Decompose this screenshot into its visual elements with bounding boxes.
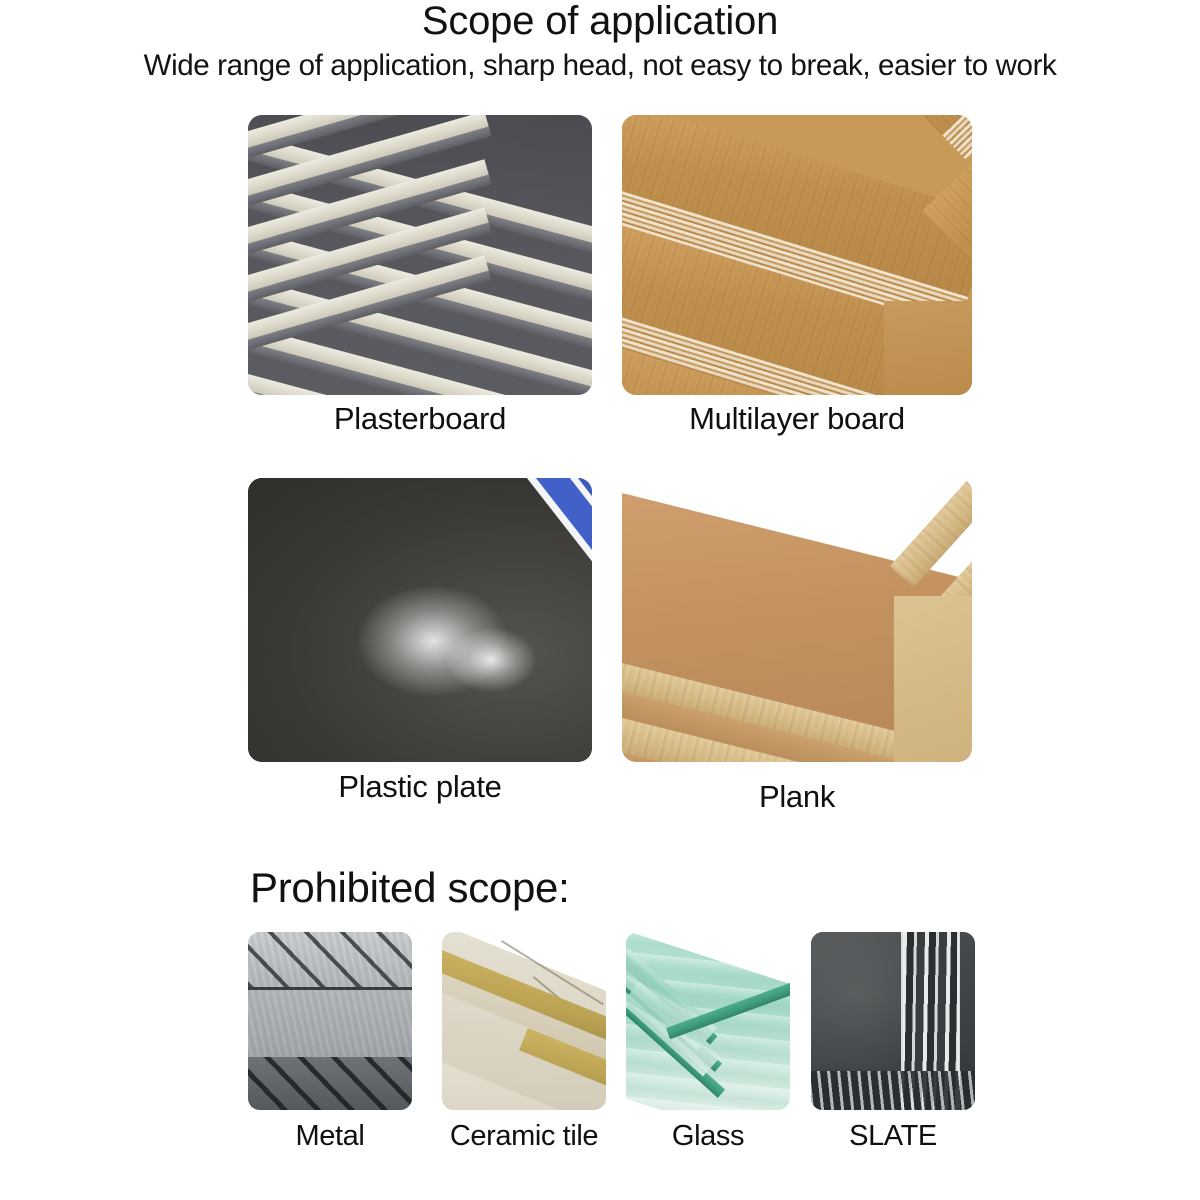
- material-panel-glass: [626, 932, 790, 1110]
- page-subtitle: Wide range of application, sharp head, n…: [9, 47, 1191, 85]
- material-panel-multilayer-board: [622, 115, 972, 395]
- material-panel-slate: [811, 932, 975, 1110]
- steel-plate-texture: [248, 932, 412, 1110]
- prohibited-scope-heading: Prohibited scope:: [250, 862, 569, 914]
- material-panel-plasterboard: [248, 115, 592, 395]
- glass-sheet-texture: [626, 932, 790, 1110]
- caption-metal: Metal: [248, 1118, 412, 1154]
- caption-plank: Plank: [622, 778, 972, 816]
- material-panel-ceramic-tile: [442, 932, 606, 1110]
- plywood-texture: [622, 115, 972, 395]
- ceramic-tile-texture: [442, 932, 606, 1110]
- material-panel-metal: [248, 932, 412, 1110]
- slate-stone-texture: [811, 932, 975, 1110]
- caption-glass: Glass: [626, 1118, 790, 1154]
- blue-plastic-texture: [248, 478, 592, 762]
- material-panel-plank: [622, 478, 972, 762]
- caption-multilayer-board: Multilayer board: [622, 400, 972, 438]
- material-panel-plastic-plate: [248, 478, 592, 762]
- infographic-page: Scope of application Wide range of appli…: [0, 0, 1200, 1200]
- caption-ceramic-tile: Ceramic tile: [420, 1118, 628, 1154]
- caption-plastic-plate: Plastic plate: [248, 768, 592, 806]
- caption-plasterboard: Plasterboard: [248, 400, 592, 438]
- page-title: Scope of application: [0, 0, 1200, 44]
- timber-plank-texture: [622, 478, 972, 762]
- caption-slate: SLATE: [811, 1118, 975, 1154]
- plasterboard-texture: [248, 115, 592, 395]
